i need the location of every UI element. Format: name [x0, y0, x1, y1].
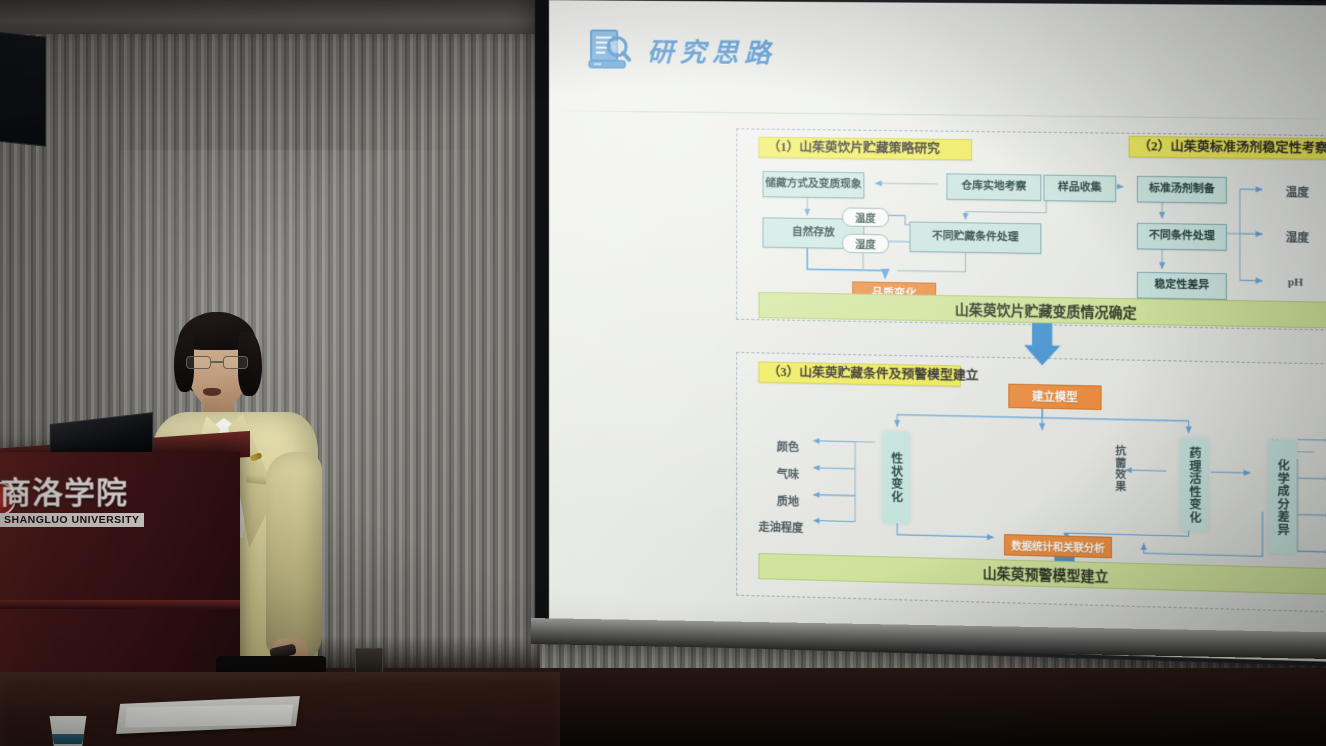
box-chemical-composition-difference: 化学成分差异: [1269, 440, 1296, 554]
leaf-ph: pH: [1288, 276, 1303, 289]
box-standard-decoction-prep: 标准汤剂制备: [1137, 176, 1227, 204]
section-1-header: （1）山茱萸饮片贮藏策略研究: [758, 137, 972, 161]
leaf-temperature: 温度: [1286, 184, 1309, 201]
title-divider: [549, 110, 1326, 120]
slide-title: 研究思路: [647, 31, 776, 69]
box-different-conditions: 不同条件处理: [1137, 223, 1227, 251]
box-build-model: 建立模型: [1008, 384, 1101, 410]
presentation-slide: 研究思路: [549, 0, 1326, 662]
projection-screen: 研究思路: [535, 0, 1326, 667]
podium-shelf: [0, 600, 240, 609]
conference-room-scene: 研究思路: [0, 0, 1326, 746]
section-3-header: （3）山茱萸贮藏条件及预警模型建立: [758, 361, 960, 386]
paper-cup-band: [50, 734, 86, 744]
pill-temperature: 温度: [842, 207, 889, 227]
podium-logo: 商洛学院 SHANGLUO UNIVERSITY: [0, 478, 150, 528]
glasses-bridge: [211, 361, 223, 363]
leaf-color: 颜色: [777, 438, 799, 455]
university-name-en: SHANGLUO UNIVERSITY: [0, 513, 144, 527]
leaf-oil-seepage-degree: 走油程度: [758, 519, 803, 536]
ceiling: [0, 0, 540, 34]
lens-left: [186, 356, 211, 369]
glasses: [186, 356, 248, 369]
box-data-statistics-correlation-analysis: 数据统计和关联分析: [1004, 534, 1112, 558]
screen-bezel: 研究思路: [535, 0, 1326, 667]
box-stability-difference: 稳定性差异: [1137, 272, 1227, 300]
wall-outlet: [355, 648, 383, 674]
screen-surface: 研究思路: [549, 0, 1326, 662]
pill-humidity: 湿度: [842, 234, 889, 254]
leaf-texture: 质地: [777, 493, 799, 510]
box-pharmacological-activity-change: 药理活性变化: [1181, 438, 1208, 531]
right-arm: [266, 452, 322, 662]
leaf-humidity: 湿度: [1286, 229, 1309, 246]
box-different-storage-conditions: 不同贮藏条件处理: [909, 221, 1041, 253]
paper-stack-top: [125, 705, 293, 728]
box-storage-modes: 储藏方式及变质现象: [763, 171, 865, 199]
box-sample-collection: 样品收集: [1043, 175, 1116, 202]
leaf-odor: 气味: [777, 466, 799, 483]
leaf-antibacterial-effect: 抗菌效果: [1112, 445, 1128, 492]
lens-right: [223, 356, 248, 369]
mouth: [203, 388, 221, 396]
ceiling-speaker-box: [0, 31, 46, 146]
document-search-icon: [587, 26, 633, 73]
university-name-cn: 商洛学院: [0, 478, 150, 509]
slide-title-row: 研究思路: [587, 26, 777, 74]
box-trait-change: 性状变化: [883, 432, 910, 524]
section-2-header: （2）山茱萸标准汤剂稳定性考察: [1129, 136, 1326, 160]
box-warehouse-survey: 仓库实地考察: [946, 173, 1041, 201]
